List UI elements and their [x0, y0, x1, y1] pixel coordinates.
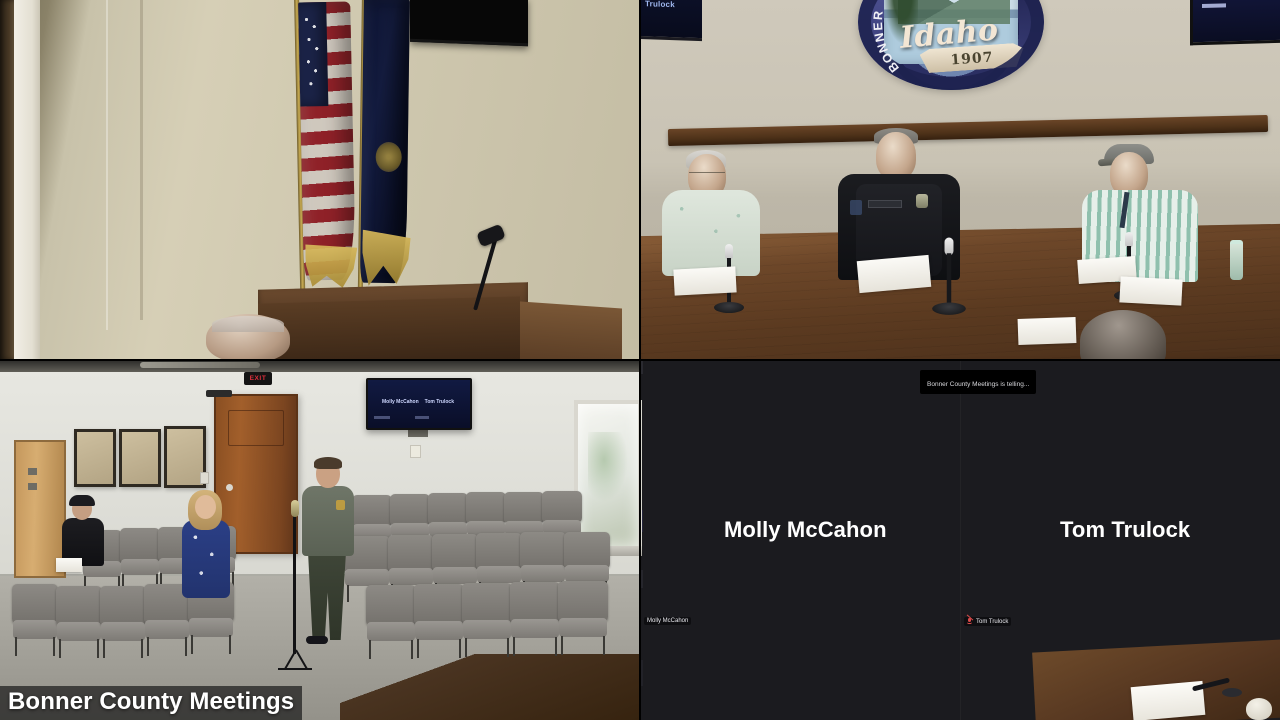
head: [1080, 310, 1166, 360]
flag-canton: [298, 2, 328, 107]
mic-base: [932, 303, 966, 315]
chair: [414, 584, 464, 658]
paper-document: [56, 558, 82, 572]
window: [574, 400, 642, 550]
floor-microphone-stand-icon: [278, 500, 312, 672]
camera-pane-dais[interactable]: Trulock Idaho 1907 BONNER COUNTY: [640, 0, 1280, 360]
exit-sign-icon: EXIT: [244, 372, 272, 385]
mic-neck: [473, 236, 498, 310]
gooseneck-microphone-icon: [470, 228, 532, 320]
seal-letter: R: [871, 10, 886, 21]
name-tag: [868, 200, 902, 208]
mic-base: [714, 302, 744, 313]
wall-monitor-zoom-mirror: Molly McCahon Tom Trulock: [366, 378, 472, 430]
framed-artwork: [74, 429, 116, 487]
gallery-attendee-mid: [178, 490, 236, 600]
channel-caption-overlay: Bonner County Meetings: [0, 686, 302, 720]
flag-fringe: [305, 243, 358, 288]
seal-letter: E: [871, 21, 885, 31]
desk-microphone-icon: [1192, 676, 1250, 702]
hair: [314, 457, 342, 469]
monitor-highlight: [1202, 3, 1226, 8]
wall-trim: [14, 0, 40, 360]
chair: [462, 583, 512, 657]
framed-artwork: [119, 429, 161, 487]
monitor-participant-left: Molly McCahon: [382, 399, 419, 405]
monitor-tile-right: [415, 416, 429, 419]
wall-switch-plate-icon: [200, 472, 209, 484]
chair: [510, 582, 560, 656]
quadrant-divider-horizontal: [0, 359, 1280, 361]
side-monitor-text: Trulock: [645, 0, 675, 9]
shoulder-patch-icon: [850, 200, 862, 215]
chair: [100, 586, 146, 658]
monitor-wall-mount: [408, 430, 428, 437]
mic-head: [291, 500, 299, 517]
chair: [56, 586, 102, 658]
tile-label-tom[interactable]: Tom Trulock: [964, 617, 1011, 626]
camera-pane-podium[interactable]: [0, 0, 640, 360]
tile-label-text: Molly McCahon: [647, 618, 688, 624]
mic-pole: [293, 514, 296, 654]
paper-document: [673, 266, 736, 295]
wall-monitor-off-icon: [410, 0, 528, 46]
tile-label-molly[interactable]: Molly McCahon: [644, 617, 691, 625]
tile-label-text: Tom Trulock: [976, 619, 1008, 625]
chair: [12, 584, 58, 656]
table-microphone-center: [930, 238, 968, 321]
video-stream-stage: Trulock Idaho 1907 BONNER COUNTY: [0, 0, 1280, 720]
microphone-muted-icon: [967, 618, 973, 625]
wall-corner: [106, 0, 108, 330]
door-placard: [28, 468, 37, 475]
side-monitor-right: [1190, 0, 1280, 45]
side-monitor-left: Trulock: [640, 0, 702, 41]
water-bottle-icon: [1230, 240, 1243, 280]
zoom-toast-text: Bonner County Meetings is telling...: [927, 381, 1029, 388]
exit-sign-text: EXIT: [250, 375, 267, 382]
head: [876, 132, 916, 180]
mic-base: [1222, 688, 1242, 697]
legs: [308, 552, 346, 640]
participant-name-row: Molly McCahon Tom Trulock: [640, 510, 1280, 550]
participant-name-tom: Tom Trulock: [1060, 517, 1190, 543]
door-placard: [28, 483, 37, 490]
united-states-flag-icon: [296, 0, 360, 295]
floral-dress: [182, 520, 230, 598]
head: [195, 495, 216, 519]
foreground-person-head: [206, 314, 290, 360]
wall-thermostat-icon: [410, 445, 421, 458]
chair: [558, 581, 608, 655]
seal-county-text: BONNER COUNTY: [858, 0, 1044, 90]
foreground-attendee: [1040, 300, 1200, 360]
chair: [366, 585, 416, 659]
badge-icon: [916, 194, 928, 208]
zoom-notification-toast[interactable]: Bonner County Meetings is telling...: [920, 370, 1036, 394]
cap-icon: [69, 495, 95, 506]
badge-icon: [336, 500, 345, 510]
tripod-base: [278, 648, 312, 670]
participant-name-molly: Molly McCahon: [724, 517, 887, 543]
paper-document: [857, 255, 932, 293]
door-panel: [228, 410, 284, 446]
bonner-county-seal-icon: Idaho 1907 BONNER COUNTY: [858, 0, 1044, 90]
wall-corner-shadow: [140, 0, 143, 320]
mic-stem: [947, 253, 951, 307]
idaho-state-flag-icon: [358, 0, 416, 292]
channel-caption-text: Bonner County Meetings: [8, 688, 294, 716]
chair: [120, 528, 160, 590]
monitor-participant-right: Tom Trulock: [425, 399, 454, 405]
door-closer: [206, 390, 232, 397]
monitor-tile-left: [374, 416, 390, 419]
seal-letter: [873, 1, 888, 8]
glasses-icon: [689, 172, 725, 179]
gallery-attendee-left: [58, 498, 110, 580]
cup-icon: [1246, 698, 1272, 720]
